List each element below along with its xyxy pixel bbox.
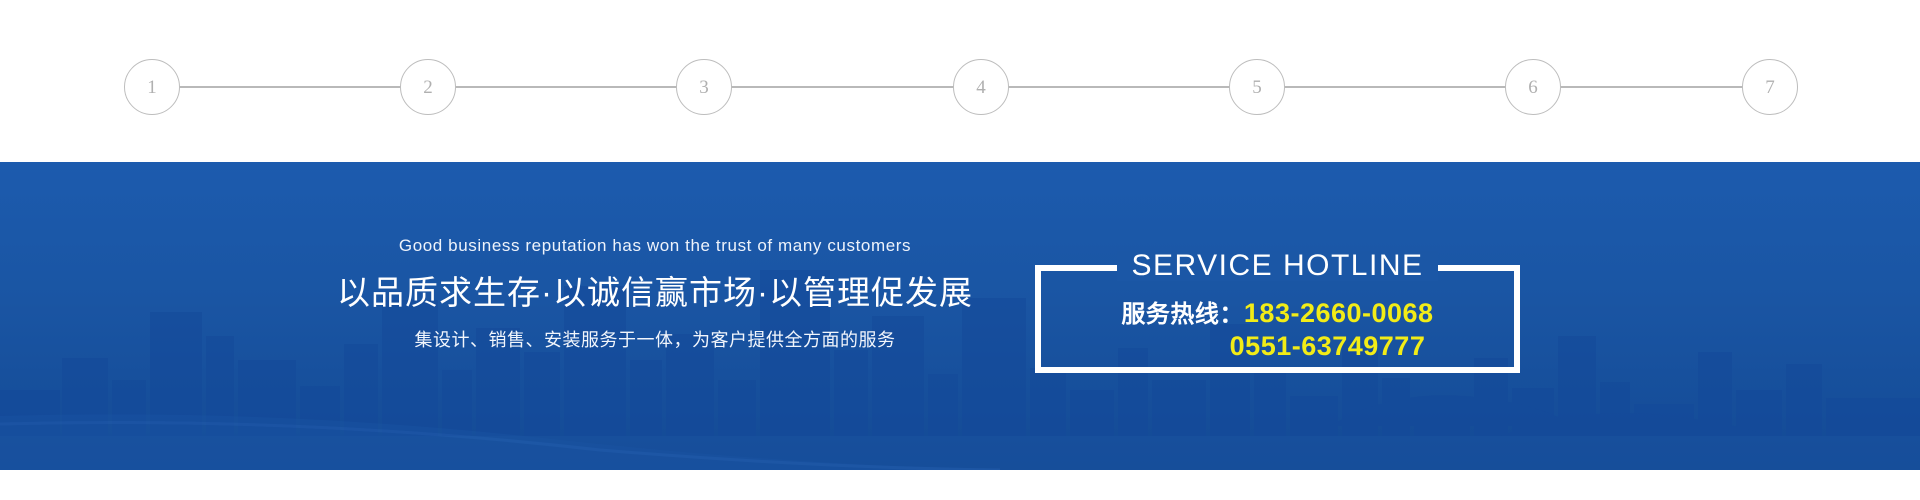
step-label: 3: [699, 78, 709, 97]
step-node-1[interactable]: 1: [124, 59, 180, 115]
slogan-english: Good business reputation has won the tru…: [330, 236, 980, 256]
step-node-4[interactable]: 4: [953, 59, 1009, 115]
step-node-6[interactable]: 6: [1505, 59, 1561, 115]
hotline-number-mobile[interactable]: 183-2660-0068: [1244, 297, 1434, 330]
page-root: 1 2 3 4 5 6 7: [0, 0, 1920, 500]
step-node-2[interactable]: 2: [400, 59, 456, 115]
step-node-3[interactable]: 3: [676, 59, 732, 115]
hotline-row-primary: 服务热线： 183-2660-0068: [1035, 297, 1520, 330]
slogan-subline: 集设计、销售、安装服务于一体，为客户提供全方面的服务: [330, 326, 980, 352]
step-label: 5: [1252, 78, 1262, 97]
hotline-numbers: 服务热线： 183-2660-0068 0551-63749777: [1035, 297, 1520, 364]
hotline-number-landline[interactable]: 0551-63749777: [1230, 330, 1426, 363]
step-label: 1: [147, 78, 157, 97]
step-indicator: 1 2 3 4 5 6 7: [124, 59, 1798, 115]
hotline-label: 服务热线：: [1121, 300, 1244, 330]
slogan-block: Good business reputation has won the tru…: [330, 236, 980, 352]
slogan-headline: 以品质求生存·以诚信赢市场·以管理促发展: [330, 266, 980, 314]
service-hotline-panel: SERVICE HOTLINE 服务热线： 183-2660-0068 0551…: [1035, 251, 1520, 373]
step-label: 4: [976, 78, 986, 97]
hotline-row-secondary: 0551-63749777: [1035, 330, 1520, 363]
step-node-5[interactable]: 5: [1229, 59, 1285, 115]
step-label: 6: [1528, 78, 1538, 97]
promo-banner: Good business reputation has won the tru…: [0, 162, 1920, 470]
stepper-strip: 1 2 3 4 5 6 7: [0, 0, 1920, 162]
step-label: 7: [1765, 78, 1775, 97]
step-label: 2: [423, 78, 433, 97]
hotline-title-text: SERVICE HOTLINE: [1117, 251, 1437, 281]
step-node-7[interactable]: 7: [1742, 59, 1798, 115]
hotline-title: SERVICE HOTLINE: [1035, 251, 1520, 281]
